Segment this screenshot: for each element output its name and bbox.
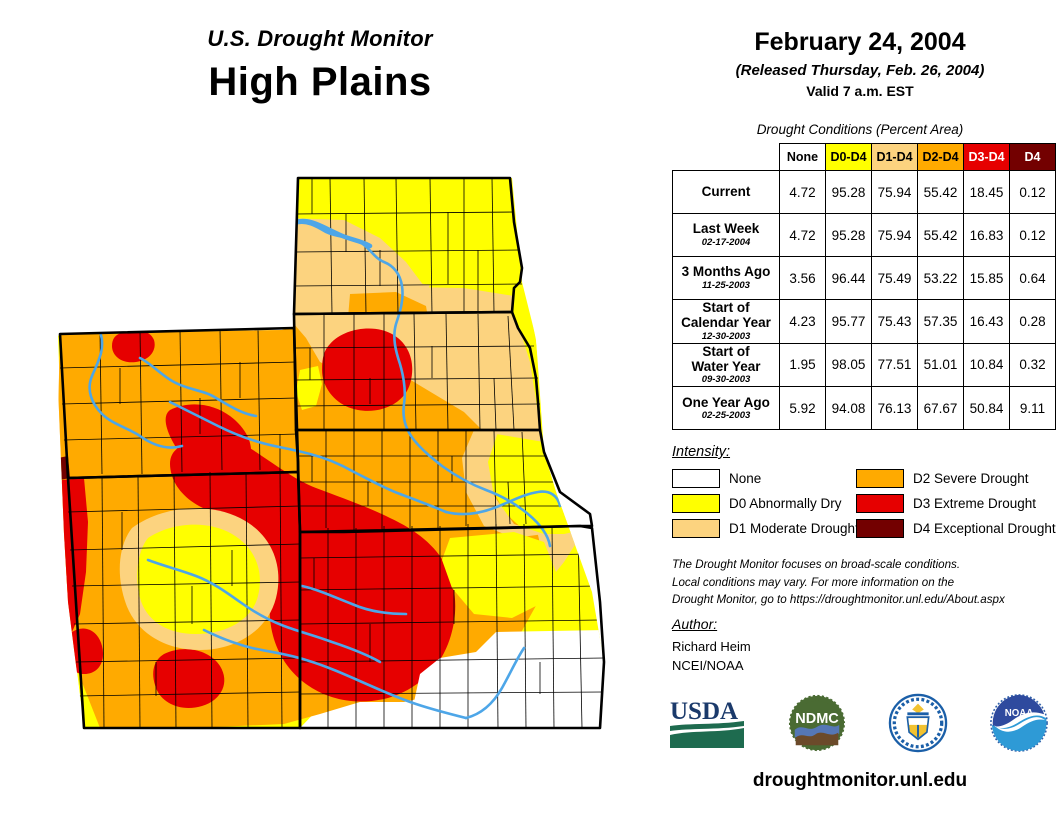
table-body: Current4.7295.2875.9455.4218.450.12Last … xyxy=(673,171,1056,430)
cell-d0-d4: 94.08 xyxy=(826,387,872,430)
legend-label: None xyxy=(729,471,761,486)
table-row: Current4.7295.2875.9455.4218.450.12 xyxy=(673,171,1056,214)
legend-swatch-icon xyxy=(856,469,904,488)
release-date: (Released Thursday, Feb. 26, 2004) xyxy=(672,62,1048,79)
cell-d0-d4: 96.44 xyxy=(826,257,872,300)
legend-item: None xyxy=(672,469,856,488)
row-label: Last Week02-17-2004 xyxy=(673,214,780,257)
legend-item: D3 Extreme Drought xyxy=(856,494,1048,513)
table-row: One Year Ago02-25-20035.9294.0876.1367.6… xyxy=(673,387,1056,430)
row-label: Start ofCalendar Year12-30-2003 xyxy=(673,300,780,344)
legend-title: Intensity: xyxy=(672,444,730,460)
cell-none: 5.92 xyxy=(780,387,826,430)
cell-d3-d4: 15.85 xyxy=(964,257,1010,300)
cell-d1-d4: 75.94 xyxy=(872,171,918,214)
doc-seal-logo xyxy=(888,693,948,758)
d0-pocket-colorado xyxy=(137,525,260,634)
row-label-date: 12-30-2003 xyxy=(673,332,779,343)
col-header-d2: D2-D4 xyxy=(918,144,964,171)
cell-d1-d4: 75.94 xyxy=(872,214,918,257)
table-corner-cell xyxy=(673,144,780,171)
svg-text:NDMC: NDMC xyxy=(795,711,839,727)
disclaimer-line-3: Drought Monitor, go to https://droughtmo… xyxy=(672,591,1054,609)
col-header-d1: D1-D4 xyxy=(872,144,918,171)
disclaimer-line-1: The Drought Monitor focuses on broad-sca… xyxy=(672,556,1054,574)
legend-label: D4 Exceptional Drought xyxy=(913,521,1056,536)
map-title-block: U.S. Drought Monitor High Plains xyxy=(0,26,640,105)
cell-d4: 0.28 xyxy=(1010,300,1056,344)
legend-label: D3 Extreme Drought xyxy=(913,496,1036,511)
cell-d0-d4: 98.05 xyxy=(826,343,872,387)
logo-row: USDA NDMC xyxy=(668,692,1050,758)
cell-none: 4.23 xyxy=(780,300,826,344)
ndmc-logo: NDMC xyxy=(786,693,848,758)
cell-none: 4.72 xyxy=(780,214,826,257)
col-header-d4: D4 xyxy=(1010,144,1056,171)
cell-d2-d4: 55.42 xyxy=(918,214,964,257)
legend-item: D4 Exceptional Drought xyxy=(856,519,1048,538)
table-header: None D0-D4 D1-D4 D2-D4 D3-D4 D4 xyxy=(673,144,1056,171)
legend-swatch-icon xyxy=(672,494,720,513)
usda-logo: USDA xyxy=(668,695,746,756)
row-label-date: 09-30-2003 xyxy=(673,375,779,386)
date-header-block: February 24, 2004 (Released Thursday, Fe… xyxy=(672,28,1048,99)
row-label-date: 02-25-2003 xyxy=(673,411,779,422)
cell-d4: 0.32 xyxy=(1010,343,1056,387)
author-title: Author: xyxy=(672,616,717,632)
row-label: Start ofWater Year09-30-2003 xyxy=(673,343,780,387)
disclaimer-line-2: Local conditions may vary. For more info… xyxy=(672,574,1054,592)
row-label: Current xyxy=(673,171,780,214)
cell-d1-d4: 77.51 xyxy=(872,343,918,387)
issue-date: February 24, 2004 xyxy=(672,28,1048,57)
legend-swatch-icon xyxy=(856,494,904,513)
legend-swatch-icon xyxy=(672,519,720,538)
legend-item: D0 Abnormally Dry xyxy=(672,494,856,513)
cell-d2-d4: 51.01 xyxy=(918,343,964,387)
table-row: Start ofWater Year09-30-20031.9598.0577.… xyxy=(673,343,1056,387)
cell-none: 4.72 xyxy=(780,171,826,214)
cell-d3-d4: 16.43 xyxy=(964,300,1010,344)
cell-d3-d4: 10.84 xyxy=(964,343,1010,387)
cell-d0-d4: 95.28 xyxy=(826,214,872,257)
row-label: One Year Ago02-25-2003 xyxy=(673,387,780,430)
cell-none: 1.95 xyxy=(780,343,826,387)
table-header-row: None D0-D4 D1-D4 D2-D4 D3-D4 D4 xyxy=(673,144,1056,171)
cell-d4: 0.12 xyxy=(1010,171,1056,214)
table-row: 3 Months Ago11-25-20033.5696.4475.4953.2… xyxy=(673,257,1056,300)
cell-d0-d4: 95.28 xyxy=(826,171,872,214)
author-name: Richard Heim xyxy=(672,637,751,656)
table-caption: Drought Conditions (Percent Area) xyxy=(672,122,1048,137)
cell-d0-d4: 95.77 xyxy=(826,300,872,344)
cell-d4: 0.12 xyxy=(1010,214,1056,257)
page-title: High Plains xyxy=(0,60,640,105)
disclaimer-block: The Drought Monitor focuses on broad-sca… xyxy=(672,556,1054,609)
cell-d2-d4: 67.67 xyxy=(918,387,964,430)
col-header-none: None xyxy=(780,144,826,171)
cell-d3-d4: 50.84 xyxy=(964,387,1010,430)
cell-d2-d4: 57.35 xyxy=(918,300,964,344)
dm-kicker: U.S. Drought Monitor xyxy=(0,26,640,52)
legend-swatch-icon xyxy=(672,469,720,488)
noaa-logo: NOAA xyxy=(988,693,1050,758)
author-affiliation: NCEI/NOAA xyxy=(672,656,751,675)
cell-d3-d4: 18.45 xyxy=(964,171,1010,214)
legend-swatch-icon xyxy=(856,519,904,538)
intensity-legend: NoneD2 Severe DroughtD0 Abnormally DryD3… xyxy=(672,466,1048,541)
legend-item: D1 Moderate Drought xyxy=(672,519,856,538)
cell-d3-d4: 16.83 xyxy=(964,214,1010,257)
cell-d2-d4: 53.22 xyxy=(918,257,964,300)
row-label-date: 11-25-2003 xyxy=(673,281,779,292)
cell-d1-d4: 75.49 xyxy=(872,257,918,300)
cell-d2-d4: 55.42 xyxy=(918,171,964,214)
cell-d4: 9.11 xyxy=(1010,387,1056,430)
drought-map xyxy=(44,162,644,772)
cell-d1-d4: 76.13 xyxy=(872,387,918,430)
legend-item: D2 Severe Drought xyxy=(856,469,1048,488)
drought-conditions-table: None D0-D4 D1-D4 D2-D4 D3-D4 D4 Current4… xyxy=(672,143,1056,430)
cell-none: 3.56 xyxy=(780,257,826,300)
row-label: 3 Months Ago11-25-2003 xyxy=(673,257,780,300)
svg-text:NOAA: NOAA xyxy=(1005,708,1033,719)
table-row: Last Week02-17-20044.7295.2875.9455.4216… xyxy=(673,214,1056,257)
col-header-d3: D3-D4 xyxy=(964,144,1010,171)
cell-d4: 0.64 xyxy=(1010,257,1056,300)
table-row: Start ofCalendar Year12-30-20034.2395.77… xyxy=(673,300,1056,344)
legend-label: D2 Severe Drought xyxy=(913,471,1029,486)
svg-text:USDA: USDA xyxy=(670,698,738,725)
col-header-d0: D0-D4 xyxy=(826,144,872,171)
row-label-date: 02-17-2004 xyxy=(673,238,779,249)
valid-time: Valid 7 a.m. EST xyxy=(672,83,1048,99)
d3-region-south-dakota xyxy=(322,329,412,411)
site-url: droughtmonitor.unl.edu xyxy=(672,770,1048,792)
author-block: Richard Heim NCEI/NOAA xyxy=(672,637,751,675)
cell-d1-d4: 75.43 xyxy=(872,300,918,344)
legend-label: D1 Moderate Drought xyxy=(729,521,859,536)
legend-label: D0 Abnormally Dry xyxy=(729,496,842,511)
